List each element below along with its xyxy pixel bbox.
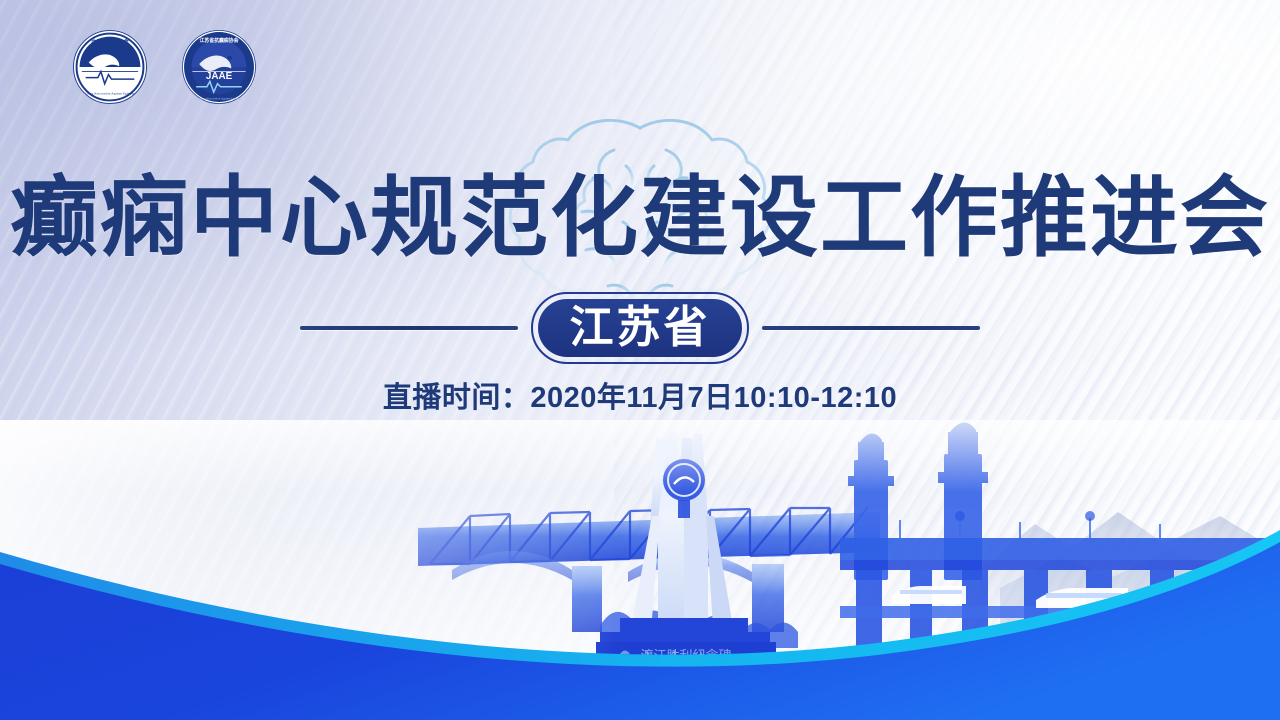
- svg-text:China Association Against Epil: China Association Against Epilepsy: [85, 91, 135, 95]
- bridge-tower: [848, 422, 988, 580]
- mountain-silhouette-icon: [980, 512, 1280, 640]
- svg-text:江苏省抗癫痫协会: 江苏省抗癫痫协会: [200, 37, 239, 44]
- province-badge-row: 江苏省: [0, 292, 1280, 364]
- bottom-wave-decoration: [0, 490, 1280, 720]
- monument-inscription: 渡江胜利纪念碑: [640, 648, 731, 664]
- nanjing-yangtze-river-bridge-icon: 渡江胜利纪念碑: [0, 420, 1280, 720]
- livestream-datetime: 直播时间：2020年11月7日10:10-12:10: [0, 374, 1280, 416]
- divider-line-left: [300, 326, 518, 330]
- china-association-against-epilepsy-logo: 中国抗癫痫协会 China Association Against Epilep…: [72, 29, 148, 105]
- divider-line-right: [762, 326, 980, 330]
- high-speed-train-icon: [892, 586, 1128, 608]
- organization-logos: 中国抗癫痫协会 China Association Against Epilep…: [72, 29, 257, 105]
- province-badge: 江苏省: [538, 299, 742, 357]
- jiangsu-association-against-epilepsy-logo: JAAE 江苏省抗癫痫协会 Jiangsu Association Agains…: [181, 29, 257, 105]
- province-badge-outline: 江苏省: [531, 292, 749, 364]
- live-stream-poster: 中国抗癫痫协会 China Association Against Epilep…: [0, 0, 1280, 720]
- monument-icon: 渡江胜利纪念碑: [596, 430, 776, 668]
- page-title: 癫痫中心规范化建设工作推进会: [0, 174, 1280, 262]
- svg-text:Jiangsu Association Against Ep: Jiangsu Association Against Epilepsy: [196, 97, 242, 101]
